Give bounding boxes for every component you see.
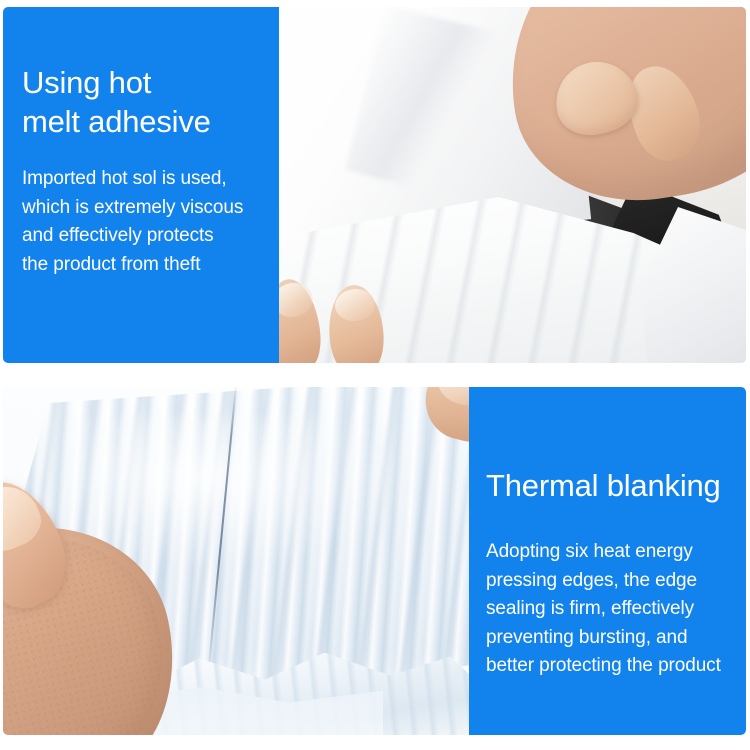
mailer-specular-highlight bbox=[63, 417, 403, 567]
feature-heading-bottom: Thermal blanking bbox=[486, 466, 721, 505]
photo-thermal-blanking bbox=[3, 387, 469, 735]
feature-panel-top: Using hot melt adhesive Imported hot sol… bbox=[3, 7, 746, 363]
feature-panel-bottom: Thermal blanking Adopting six heat energ… bbox=[3, 387, 746, 735]
text-block-bottom: Thermal blanking Adopting six heat energ… bbox=[469, 387, 746, 735]
feature-description-top: Imported hot sol is used, which is extre… bbox=[22, 165, 243, 279]
feature-description-bottom: Adopting six heat energy pressing edges,… bbox=[486, 538, 721, 681]
text-block-top: Using hot melt adhesive Imported hot sol… bbox=[3, 7, 279, 363]
feature-heading-top: Using hot melt adhesive bbox=[22, 63, 211, 141]
product-feature-banner: Using hot melt adhesive Imported hot sol… bbox=[0, 0, 750, 750]
photo-hot-melt-adhesive bbox=[279, 7, 746, 363]
